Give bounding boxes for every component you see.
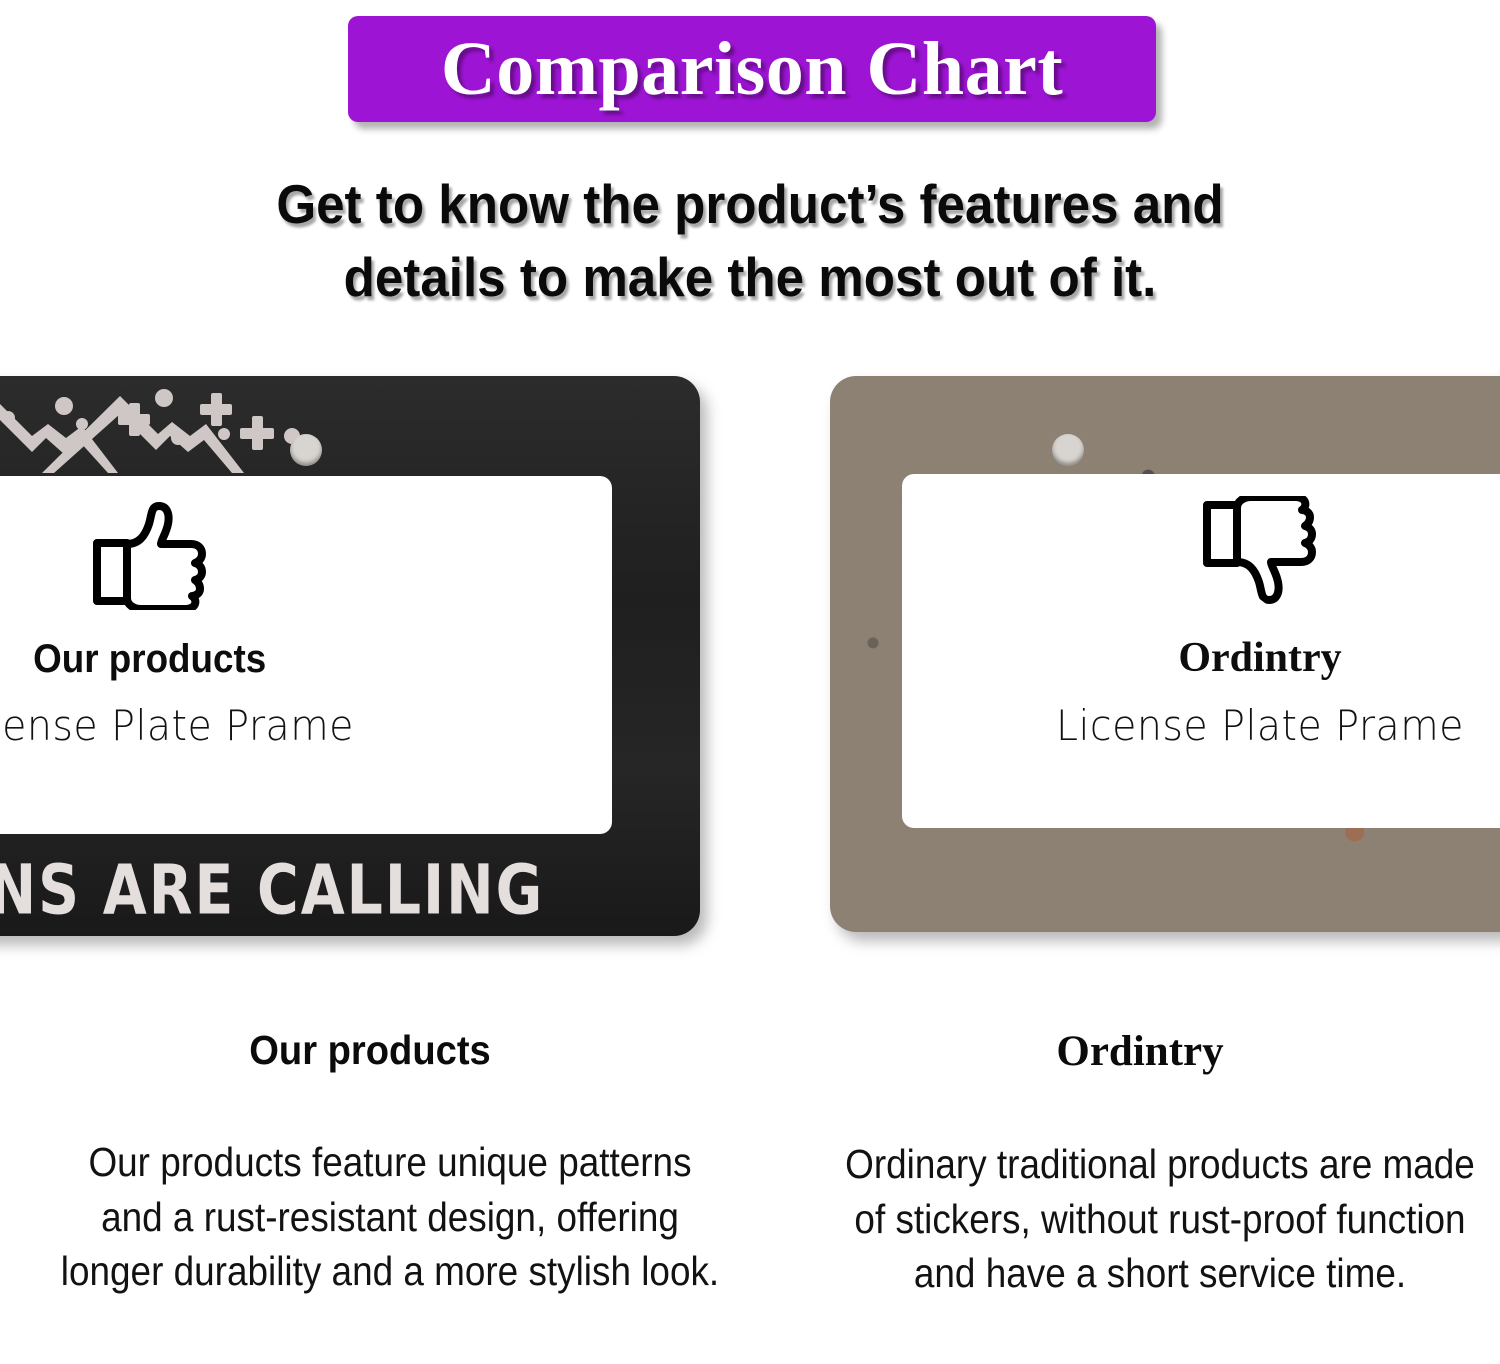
mounting-hole [290, 434, 322, 466]
mounting-hole [1052, 434, 1084, 466]
plate-content: Our products License Plate Prame [0, 476, 612, 834]
ordinary-product-frame-image: Ordintry License Plate Prame [830, 376, 1500, 932]
column-heading: Our products [45, 1030, 696, 1071]
column-body-text: Ordinary traditional products are made o… [827, 1137, 1493, 1301]
plate-subtitle-label: License Plate Prame [1056, 705, 1464, 747]
column-heading: Ordintry [790, 1030, 1490, 1073]
plate-brand-label: Ordintry [1178, 637, 1341, 679]
plate-subtitle-label: License Plate Prame [0, 705, 354, 747]
plate-window: Ordintry License Plate Prame [902, 474, 1500, 828]
page-title: Comparison Chart [441, 31, 1063, 107]
our-product-description-column: Our products Our products feature unique… [20, 1030, 720, 1299]
plate-brand-label: Our products [33, 639, 266, 679]
black-license-plate-frame: Our products License Plate Prame NTAINS … [0, 376, 700, 936]
ordinary-product-description-column: Ordintry Ordinary traditional products a… [790, 1030, 1490, 1301]
column-body-text: Our products feature unique patterns and… [57, 1135, 723, 1299]
rusted-license-plate-frame: Ordintry License Plate Prame [830, 376, 1500, 932]
page-subtitle: Get to know the product’s features and d… [53, 168, 1448, 314]
mountain-icon [0, 376, 340, 476]
subtitle-line-2: details to make the most out of it. [53, 241, 1448, 314]
plate-content: Ordintry License Plate Prame [902, 474, 1500, 828]
plate-window: Our products License Plate Prame [0, 476, 612, 834]
thumbs-up-icon [91, 498, 209, 615]
comparison-chart-title-badge: Comparison Chart [348, 16, 1156, 122]
subtitle-line-1: Get to know the product’s features and [53, 168, 1448, 241]
frame-slogan-text: NTAINS ARE CALLING [0, 850, 526, 930]
our-product-frame-image: Our products License Plate Prame NTAINS … [0, 376, 700, 936]
